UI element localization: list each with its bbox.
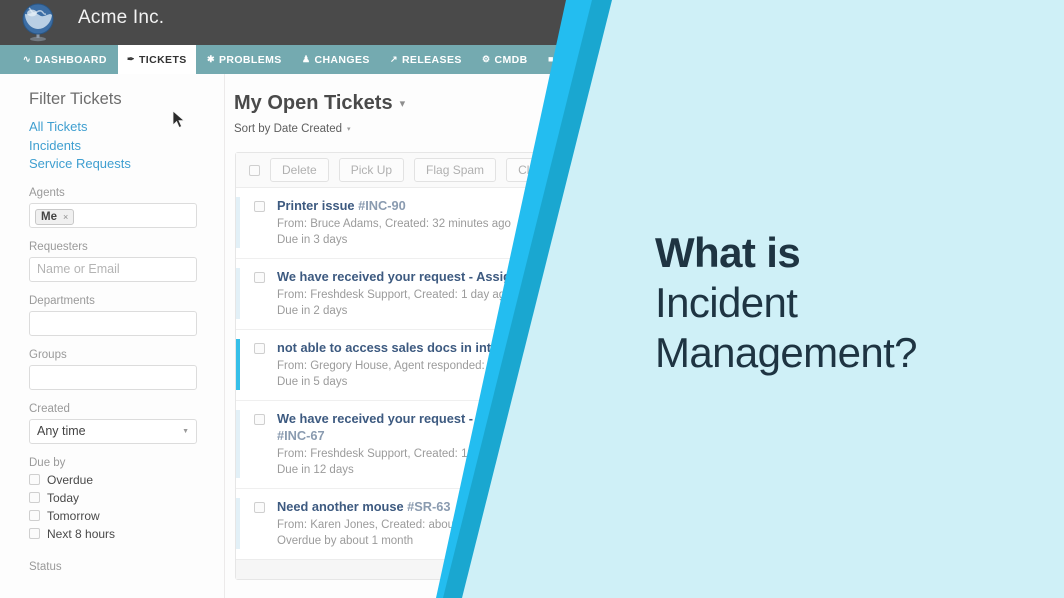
nav-item-label: SOLUTIO: [558, 54, 607, 66]
brand-name: Acme Inc.: [78, 7, 164, 29]
ticket-checkbox[interactable]: [254, 414, 265, 425]
chart-line-icon: ∿: [23, 55, 31, 64]
created-value: Any time: [37, 424, 86, 438]
ticket-checkbox[interactable]: [254, 343, 265, 354]
agents-label: Agents: [29, 187, 197, 199]
nav-item-label: RELEASES: [402, 54, 462, 66]
priority-stripe: [236, 498, 240, 549]
created-select[interactable]: Any time ▼: [29, 419, 197, 444]
nav-item-label: PROBLEMS: [219, 54, 282, 66]
nav-item-solutio[interactable]: ■SOLUTIO: [539, 45, 616, 74]
app-topbar: Acme Inc.: [0, 0, 660, 45]
due-by-option-next-8-hours[interactable]: Next 8 hours: [29, 527, 197, 541]
nav-item-label: CHANGES: [314, 54, 369, 66]
ticket-subject-text: Need another mouse: [277, 499, 407, 514]
due-by-option-label: Tomorrow: [47, 509, 100, 523]
gear-icon: ⚙: [482, 55, 490, 64]
chevron-down-icon: ▾: [347, 125, 351, 133]
ticket-list-pane: My Open Tickets ▾ Sort by Date Created ▾…: [225, 74, 660, 598]
filter-sidebar: Filter Tickets All Tickets Incidents Ser…: [0, 74, 225, 598]
priority-stripe: [236, 410, 240, 478]
ticket-toolbar: Delete Pick Up Flag Spam Close: [236, 153, 664, 188]
created-label: Created: [29, 403, 197, 415]
ticket-meta: From: Gregory House, Agent responded: ab…: [277, 358, 522, 374]
ticket-info: not able to access sales docs in intrane…: [277, 339, 522, 390]
ticket-list-box: Delete Pick Up Flag Spam Close Printer i…: [235, 152, 665, 580]
ticket-icon: ✒: [127, 55, 135, 64]
flag-spam-button[interactable]: Flag Spam: [414, 158, 496, 182]
nav-item-label: TICKETS: [139, 54, 187, 66]
ticket-subject[interactable]: Printer issue #INC-90: [277, 197, 511, 214]
ticket-due: Due in 3 days: [277, 232, 511, 248]
checkbox[interactable]: [29, 528, 40, 539]
ticket-subject[interactable]: We have received your request - Assigned…: [277, 268, 629, 285]
rocket-icon: ↗: [390, 55, 398, 64]
list-footer: [236, 559, 664, 579]
delete-button[interactable]: Delete: [270, 158, 329, 182]
priority-stripe: [236, 197, 240, 248]
ticket-subject-text: not able to access sales docs in intrane…: [277, 340, 522, 355]
main-navigation: ∿DASHBOARD✒TICKETS✱PROBLEMS♟CHANGES↗RELE…: [0, 45, 660, 74]
ticket-subject-text: We have received your request - Proble i…: [277, 411, 636, 426]
ticket-row[interactable]: We have received your request - Assigned…: [236, 259, 664, 330]
helpdesk-app: Acme Inc. ∿DASHBOARD✒TICKETS✱PROBLEMS♟CH…: [0, 0, 660, 598]
ticket-subject-text: Printer issue: [277, 198, 358, 213]
ticket-rows: Printer issue #INC-90From: Bruce Adams, …: [236, 188, 664, 559]
checkbox[interactable]: [29, 510, 40, 521]
headline: What is Incident Management?: [655, 228, 1045, 378]
priority-stripe: [236, 268, 240, 319]
nav-item-label: DASHBOARD: [35, 54, 107, 66]
sort-by-label: Sort by Date Created: [234, 123, 342, 135]
ticket-due: Overdue by about 1 month: [277, 533, 492, 549]
checkbox[interactable]: [29, 474, 40, 485]
screenshot-stage: Acme Inc. ∿DASHBOARD✒TICKETS✱PROBLEMS♟CH…: [0, 0, 1064, 598]
book-icon: ■: [548, 55, 554, 64]
status-label: Status: [29, 561, 197, 573]
ticket-row[interactable]: We have received your request - Proble i…: [236, 401, 664, 489]
bug-icon: ✱: [207, 55, 215, 64]
due-by-option-label: Overdue: [47, 473, 93, 487]
globe-icon: [19, 3, 57, 42]
sort-by-control[interactable]: Sort by Date Created ▾: [234, 123, 660, 135]
nav-item-problems[interactable]: ✱PROBLEMS: [198, 45, 291, 74]
ticket-info: Need another mouse #SR-63From: Karen Jon…: [277, 498, 492, 549]
due-by-option-label: Today: [47, 491, 79, 505]
ticket-id: #INC-90: [358, 198, 406, 213]
headline-line-3: Management?: [655, 328, 1045, 378]
ticket-row[interactable]: Printer issue #INC-90From: Bruce Adams, …: [236, 188, 664, 259]
ticket-due: Due in 5 days: [277, 374, 522, 390]
due-by-option-overdue[interactable]: Overdue: [29, 473, 197, 487]
departments-label: Departments: [29, 295, 197, 307]
ticket-meta: From: Bruce Adams, Created: 32 minutes a…: [277, 216, 511, 232]
checkbox[interactable]: [29, 492, 40, 503]
ticket-row[interactable]: Need another mouse #SR-63From: Karen Jon…: [236, 489, 664, 559]
ticket-id: #INC-83: [581, 269, 629, 284]
ticket-meta: From: Freshdesk Support, Created: 1 day …: [277, 287, 629, 303]
ticket-subject[interactable]: Need another mouse #SR-63: [277, 498, 492, 515]
mouse-cursor: [172, 110, 188, 130]
requesters-input[interactable]: [29, 257, 197, 282]
headline-line-2: Incident: [655, 278, 1045, 328]
ticket-due: Due in 2 days: [277, 303, 629, 319]
requesters-label: Requesters: [29, 241, 197, 253]
nav-item-tickets[interactable]: ✒TICKETS: [118, 45, 196, 74]
ticket-row[interactable]: not able to access sales docs in intrane…: [236, 330, 664, 401]
departments-input[interactable]: [29, 311, 197, 336]
ticket-id: #INC-67: [277, 428, 325, 443]
nav-item-dashboard[interactable]: ∿DASHBOARD: [14, 45, 116, 74]
filter-panel-title: Filter Tickets: [29, 90, 197, 109]
ticket-meta: From: Freshdesk Support, Created: 19 day…: [277, 446, 652, 462]
ticket-info: Printer issue #INC-90From: Bruce Adams, …: [277, 197, 511, 248]
ticket-checkbox[interactable]: [254, 201, 265, 212]
list-title[interactable]: My Open Tickets ▾: [234, 92, 660, 115]
agent-tag-label: Me: [41, 211, 57, 223]
list-title-text: My Open Tickets: [234, 92, 393, 115]
close-button[interactable]: Close: [506, 158, 561, 182]
ticket-id: #SR-63: [407, 499, 450, 514]
ticket-subject[interactable]: We have received your request - Proble i…: [277, 410, 652, 444]
agents-field[interactable]: Me ×: [29, 203, 197, 228]
nav-item-cmdb[interactable]: ⚙CMDB: [473, 45, 537, 74]
due-by-option-tomorrow[interactable]: Tomorrow: [29, 509, 197, 523]
ticket-subject[interactable]: not able to access sales docs in intrane…: [277, 339, 522, 356]
chevron-down-icon[interactable]: ▾: [400, 97, 406, 110]
ticket-subject-text: We have received your request - Assigned…: [277, 269, 581, 284]
priority-stripe: [236, 339, 240, 390]
nav-item-releases[interactable]: ↗RELEASES: [381, 45, 471, 74]
ticket-checkbox[interactable]: [254, 502, 265, 513]
due-by-option-today[interactable]: Today: [29, 491, 197, 505]
select-all-checkbox[interactable]: [249, 165, 260, 176]
ticket-info: We have received your request - Assigned…: [277, 268, 629, 319]
shield-icon: ♟: [302, 55, 310, 64]
ticket-info: We have received your request - Proble i…: [277, 410, 652, 478]
sidebar-link-incidents[interactable]: Incidents: [29, 137, 197, 156]
nav-item-changes[interactable]: ♟CHANGES: [293, 45, 379, 74]
remove-tag-icon[interactable]: ×: [63, 212, 68, 222]
ticket-meta: From: Karen Jones, Created: about 1 mon: [277, 517, 492, 533]
due-by-label: Due by: [29, 457, 197, 469]
ticket-checkbox[interactable]: [254, 272, 265, 283]
agent-tag-me[interactable]: Me ×: [35, 209, 74, 225]
app-content: Filter Tickets All Tickets Incidents Ser…: [0, 74, 660, 598]
ticket-due: Due in 12 days: [277, 462, 652, 478]
nav-item-label: CMDB: [494, 54, 527, 66]
due-by-option-label: Next 8 hours: [47, 527, 115, 541]
sidebar-link-service-requests[interactable]: Service Requests: [29, 155, 197, 174]
pick-up-button[interactable]: Pick Up: [339, 158, 404, 182]
headline-line-1: What is: [655, 228, 1045, 278]
groups-input[interactable]: [29, 365, 197, 390]
chevron-down-icon: ▼: [182, 428, 189, 435]
groups-label: Groups: [29, 349, 197, 361]
due-by-options: OverdueTodayTomorrowNext 8 hours: [29, 473, 197, 541]
